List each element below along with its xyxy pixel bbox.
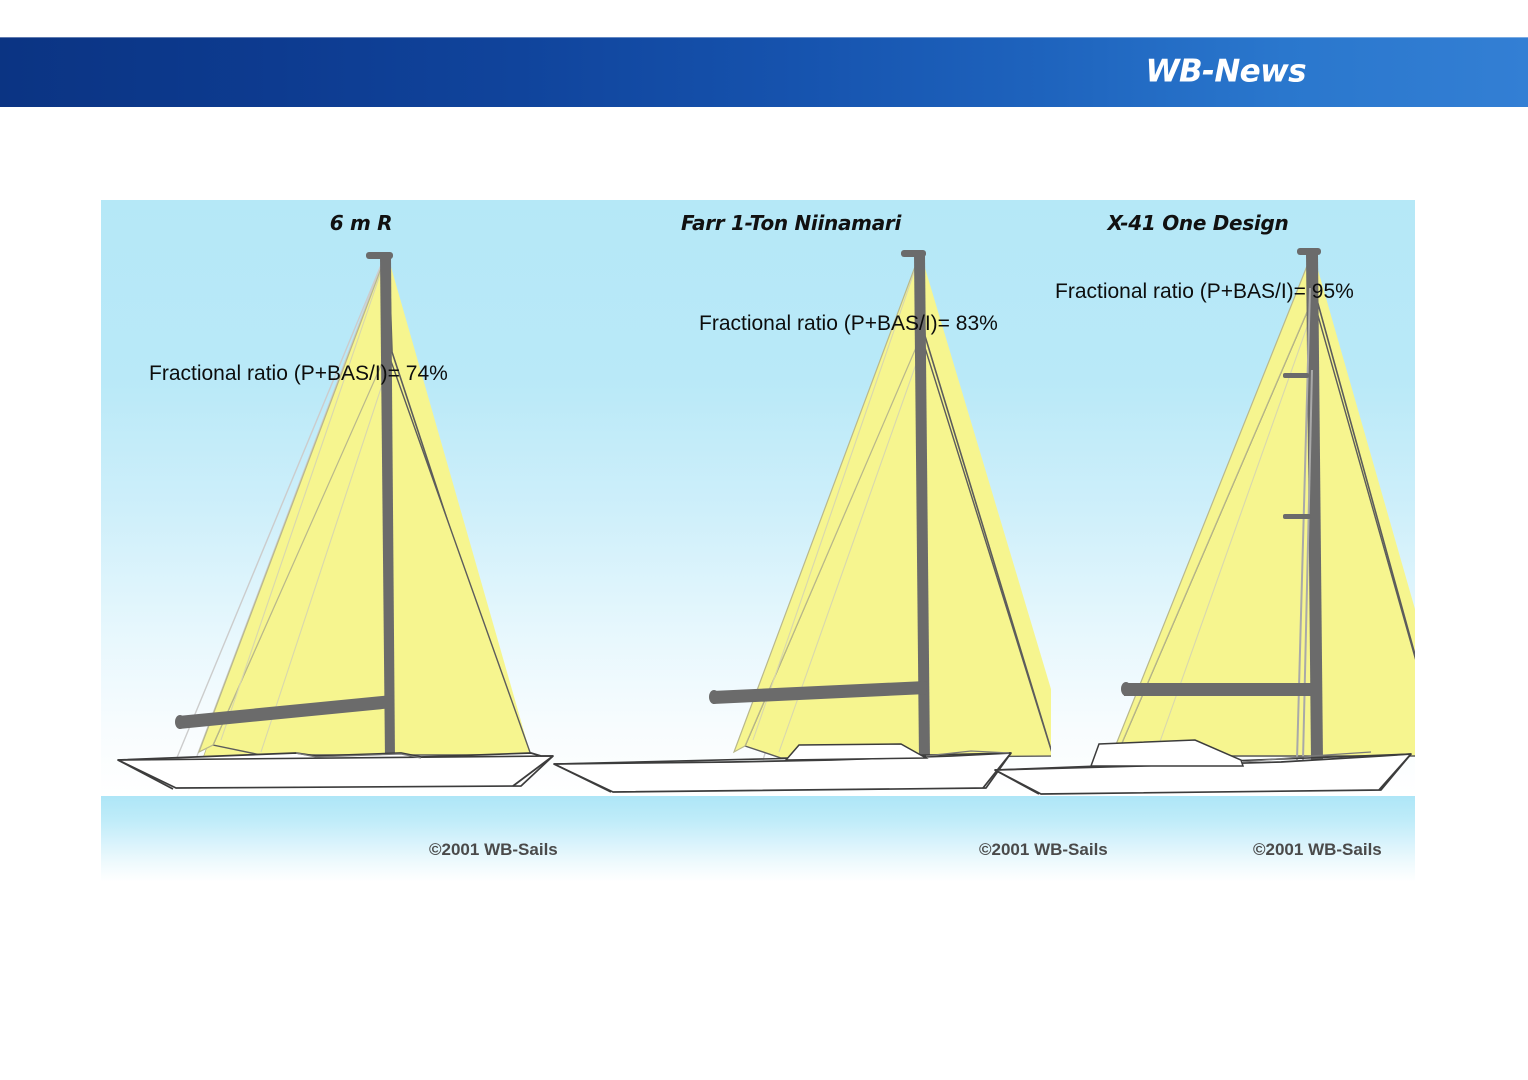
fractional-ratio-label: Fractional ratio (P+BAS/I)= 95%	[1055, 280, 1354, 304]
header-banner: WB-News	[0, 37, 1528, 107]
boom-end-cap	[709, 690, 719, 704]
lower-spreader	[1283, 514, 1311, 519]
boat-drawing-farr1ton	[531, 200, 1051, 882]
upper-spreader	[1283, 373, 1309, 378]
cabin-trunk	[786, 744, 926, 760]
boat-title: X-41 One Design	[981, 211, 1415, 235]
boat-title: Farr 1-Ton Niinamari	[531, 211, 1051, 235]
genoa-sail	[213, 350, 531, 755]
sailplan-comparison-panel: 6 m R	[101, 200, 1415, 882]
boat-figure-farr1ton: Farr 1-Ton Niinamari	[531, 200, 1051, 882]
page-title: WB-News	[1145, 53, 1306, 89]
boat-figure-x41: X-41 One Design	[981, 200, 1415, 882]
fractional-ratio-label: Fractional ratio (P+BAS/I)= 74%	[149, 362, 448, 386]
fractional-ratio-label: Fractional ratio (P+BAS/I)= 83%	[699, 312, 998, 336]
copyright-notice: ©2001 WB-Sails	[1253, 840, 1382, 860]
boom	[1124, 683, 1319, 696]
mast-head	[1297, 248, 1321, 255]
mast-head	[901, 250, 926, 257]
mast-head	[366, 252, 393, 259]
boom-end-cap	[175, 715, 185, 729]
boom-end-cap	[1121, 682, 1131, 696]
